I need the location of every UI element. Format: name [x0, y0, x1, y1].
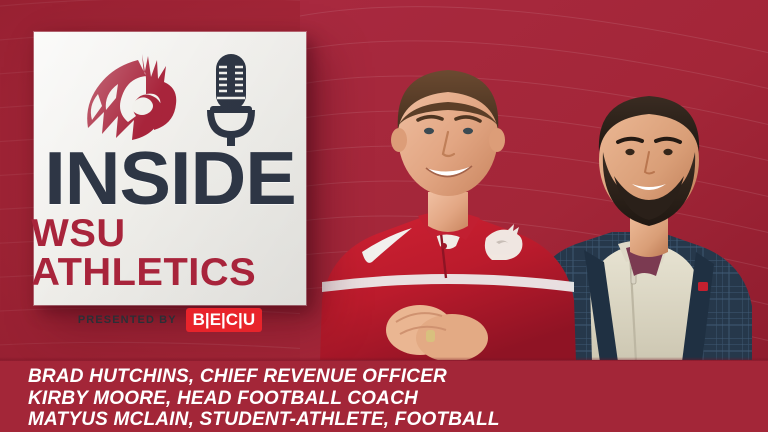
wsu-cougar-head-logo — [74, 50, 186, 144]
title-card-graphic: INSIDE WSU ATHLETICS PRESENTED BY B|E|C|… — [0, 0, 768, 432]
caption-line-2: KIRBY MOORE, HEAD FOOTBALL COACH — [28, 388, 768, 410]
microphone-icon — [196, 50, 266, 146]
caption-band: BRAD HUTCHINS, CHIEF REVENUE OFFICER KIR… — [0, 360, 768, 432]
podcast-title-primary: INSIDE — [44, 148, 295, 210]
guest-photo — [300, 0, 768, 362]
sponsor-row: PRESENTED BY B|E|C|U — [78, 308, 262, 332]
presented-by-label: PRESENTED BY — [78, 314, 177, 326]
podcast-title-secondary: WSU ATHLETICS — [31, 214, 308, 292]
red-lapel-pin — [698, 282, 708, 291]
podcast-artwork-card: INSIDE WSU ATHLETICS PRESENTED BY B|E|C|… — [34, 32, 306, 305]
becu-logo-text: B|E|C|U — [193, 311, 255, 328]
becu-logo: B|E|C|U — [186, 308, 262, 332]
caption-line-3: MATYUS MCLAIN, STUDENT-ATHLETE, FOOTBALL — [28, 409, 768, 431]
caption-line-1: BRAD HUTCHINS, CHIEF REVENUE OFFICER — [28, 366, 768, 388]
card-logo-row — [74, 50, 266, 146]
